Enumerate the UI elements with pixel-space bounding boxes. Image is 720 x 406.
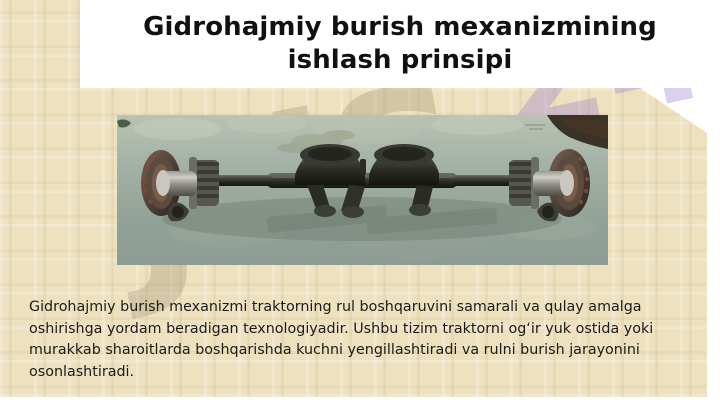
presentation-slide: JUS 24 Gidrohajmiy burish mexanizmining … bbox=[0, 0, 720, 406]
bottom-edge-strip bbox=[0, 397, 720, 406]
axle-photo-graphic bbox=[117, 115, 608, 265]
body-paragraph: Gidrohajmiy burish mexanizmi traktorning… bbox=[29, 297, 689, 384]
page-title: Gidrohajmiy burish mexanizmining ishlash… bbox=[129, 11, 671, 78]
tractor-axle-photo bbox=[117, 115, 608, 265]
right-edge-strip bbox=[707, 131, 720, 406]
title-line-2: ishlash prinsipi bbox=[288, 45, 513, 75]
title-line-1: Gidrohajmiy burish mexanizmining bbox=[143, 12, 657, 42]
title-card: Gidrohajmiy burish mexanizmining ishlash… bbox=[80, 0, 720, 88]
